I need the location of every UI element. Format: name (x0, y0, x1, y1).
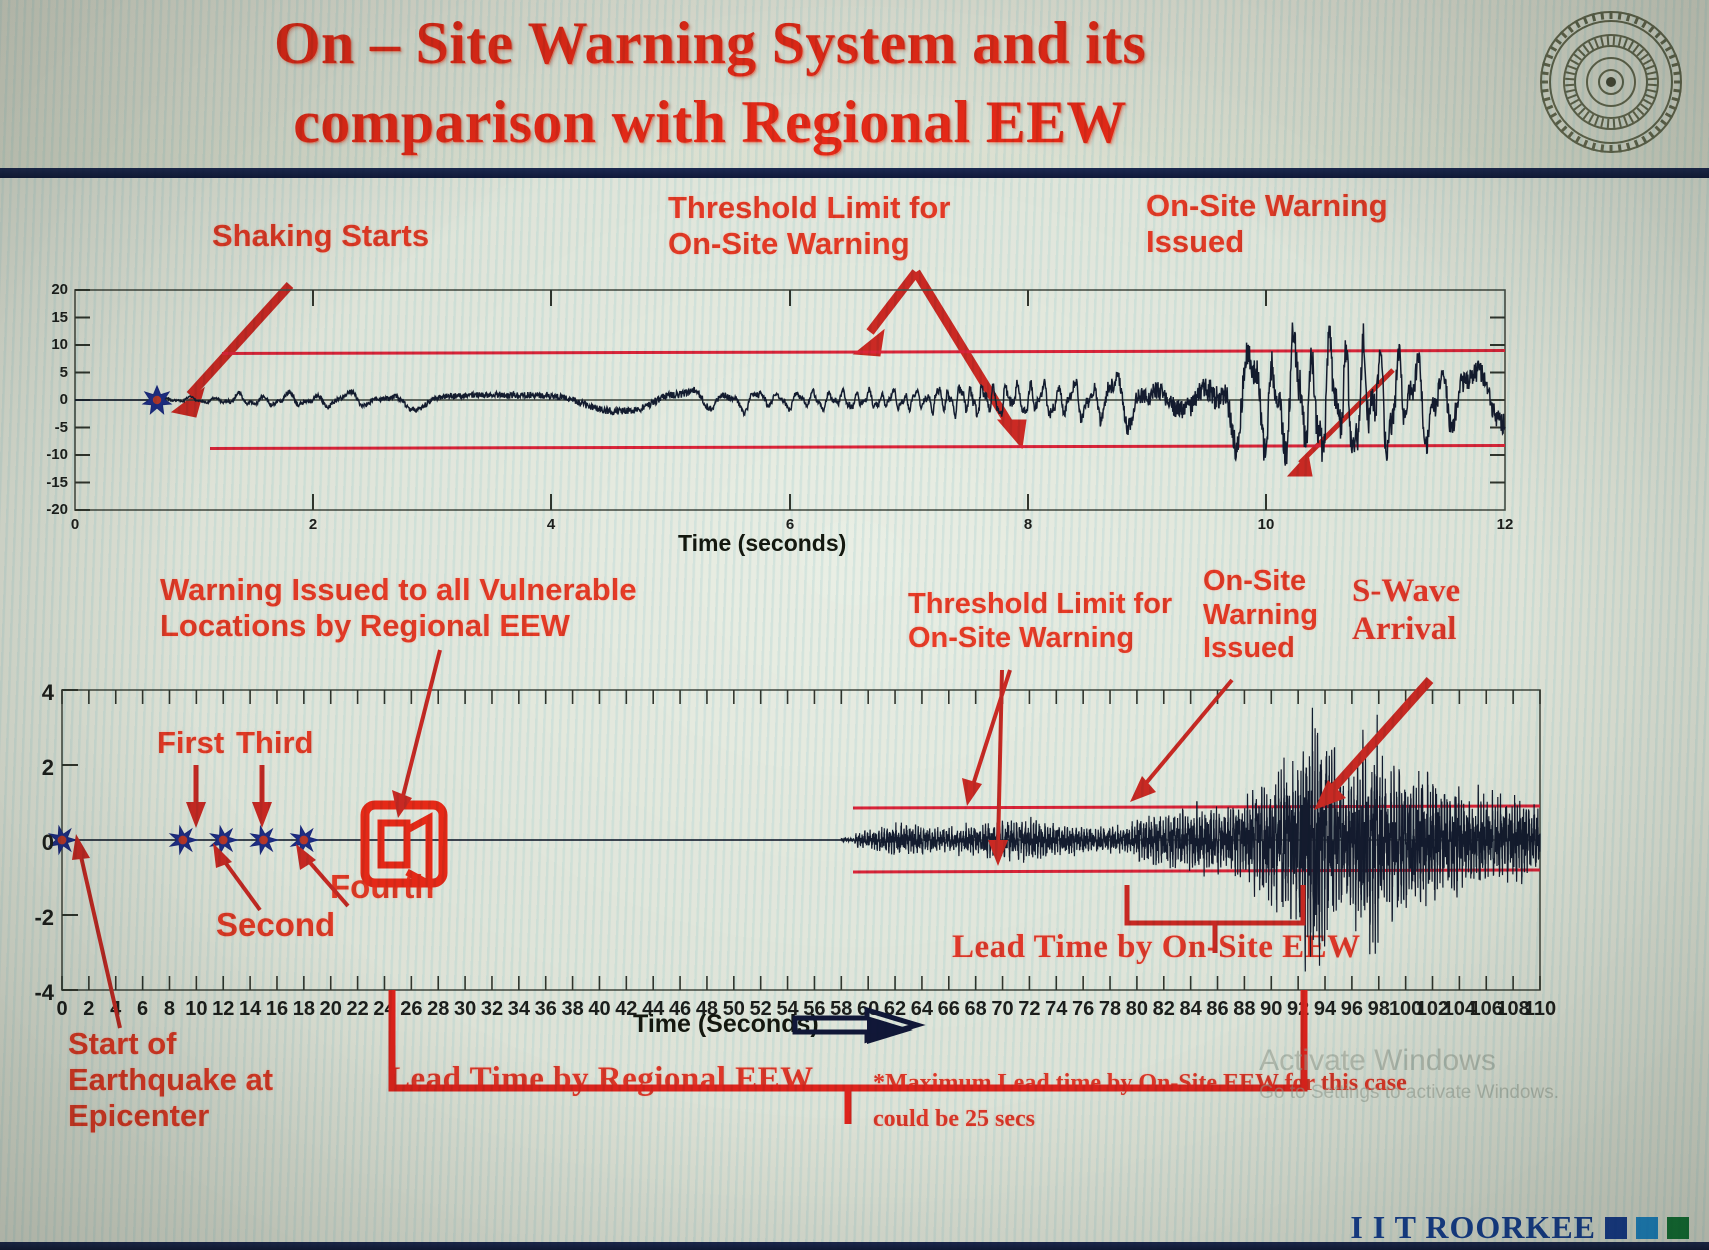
annotation-threshold-limit-bottom: Threshold Limit for On-Site Warning (908, 588, 1172, 655)
s-wave-line-1: S-Wave (1352, 572, 1460, 610)
arrow-onsite-warning-bottom (1130, 680, 1232, 802)
arrow-fourth (296, 844, 348, 906)
ytick-label: -10 (24, 446, 68, 463)
threshold-bottom-line-2: On-Site Warning (908, 622, 1172, 656)
regional-warning-line-2: Locations by Regional EEW (160, 608, 637, 644)
bracket-lead-time-regional (392, 990, 1304, 1124)
xtick-label: 8 (1010, 516, 1046, 533)
regional-warning-line-1: Warning Issued to all Vulnerable (160, 572, 637, 608)
onsite-bottom-line-2: Warning (1203, 599, 1318, 633)
top-chart-xaxis-title: Time (seconds) (678, 530, 846, 557)
watermark-line-2: Go to Settings to activate Windows. (1259, 1082, 1559, 1104)
xtick-label: 10 (1248, 516, 1284, 533)
arrow-regional-warning (392, 650, 440, 818)
ytick-label: -5 (24, 419, 68, 436)
s-wave-line-2: Arrival (1352, 610, 1460, 648)
marker-lines (392, 990, 1304, 1040)
watermark-line-1: Activate Windows (1259, 1044, 1559, 1078)
arrow-s-wave-arrival (1314, 680, 1430, 810)
arrow-second (213, 843, 260, 910)
brand-footer: I I T ROORKEE (1350, 1209, 1689, 1246)
ytick-label: 5 (24, 364, 68, 381)
chart-top-accelerogram: 20 15 10 5 0 -5 -10 -15 -20 0 2 4 6 8 10… (0, 180, 1709, 560)
ytick-label: 15 (24, 309, 68, 326)
slide-root: On – Site Warning System and its compari… (0, 0, 1709, 1250)
arrow-threshold-bottom (962, 670, 1010, 866)
title-line-2: comparison with Regional EEW (150, 83, 1270, 162)
brand-square-3 (1667, 1217, 1689, 1239)
title-line-1: On – Site Warning System and its (150, 4, 1270, 83)
page-title: On – Site Warning System and its compari… (150, 4, 1270, 162)
xtick-label: 12 (1487, 516, 1523, 533)
ytick-label: 0 (24, 391, 68, 408)
arrow-first (186, 765, 206, 828)
arrow-start-of-earthquake (72, 834, 120, 1028)
ytick-label: 10 (24, 336, 68, 353)
annotation-onsite-warning-issued-bottom: On-Site Warning Issued (1203, 565, 1318, 666)
xtick-label: 4 (533, 516, 569, 533)
windows-activation-watermark: Activate Windows Go to Settings to activ… (1259, 1044, 1559, 1104)
onsite-bottom-line-1: On-Site (1203, 565, 1318, 599)
arrow-third (252, 765, 272, 828)
threshold-bottom-line-1: Threshold Limit for (908, 588, 1172, 622)
xtick-label: 0 (57, 516, 93, 533)
footer-divider (0, 1242, 1709, 1250)
brand-text: I I T ROORKEE (1350, 1209, 1596, 1246)
accelerogram-trace (75, 323, 1505, 466)
brand-square-1 (1605, 1217, 1627, 1239)
bracket-lead-time-onsite (1127, 885, 1303, 953)
annotation-s-wave-arrival: S-Wave Arrival (1352, 572, 1460, 649)
ytick-label: 20 (24, 281, 68, 298)
iit-roorkee-emblem-icon (1537, 8, 1685, 156)
annotation-regional-warning: Warning Issued to all Vulnerable Locatio… (160, 572, 637, 644)
top-chart-svg (0, 180, 1709, 560)
brand-square-2 (1636, 1217, 1658, 1239)
slide-header: On – Site Warning System and its compari… (0, 0, 1709, 172)
header-divider (0, 168, 1709, 178)
threshold-lower-line (210, 446, 1505, 449)
xtick-label: 2 (295, 516, 331, 533)
ytick-label: -15 (24, 474, 68, 491)
